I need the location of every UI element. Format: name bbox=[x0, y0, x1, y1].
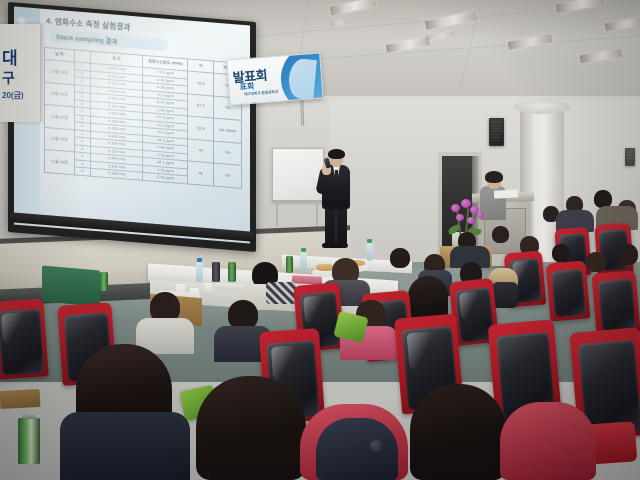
foreground-person-body bbox=[60, 412, 190, 480]
seat-panel bbox=[598, 279, 636, 332]
column-cap bbox=[514, 100, 570, 114]
presenter-shoes bbox=[322, 243, 348, 248]
cell-percent: 52.6 bbox=[188, 116, 214, 141]
foreground-person-hair bbox=[410, 384, 506, 480]
cell-date: 10월 29일 bbox=[45, 59, 75, 84]
cell-percent: 48.5 bbox=[188, 71, 214, 96]
cell-date: 10월 30일 bbox=[45, 82, 75, 107]
bottle-cap bbox=[301, 248, 306, 252]
beverage-can bbox=[212, 262, 220, 282]
beverage-can bbox=[286, 256, 293, 273]
seat-gloss bbox=[406, 331, 439, 369]
left-banner-line1: 대 bbox=[2, 44, 17, 69]
seat-gloss bbox=[303, 295, 329, 323]
seat-gloss bbox=[459, 291, 484, 319]
whiteboard-tray bbox=[272, 200, 322, 203]
armrest bbox=[0, 389, 40, 409]
cell-date: 11월 08일 bbox=[45, 149, 75, 174]
seat-panel bbox=[551, 269, 586, 318]
wall-speaker-icon bbox=[625, 148, 635, 166]
orchid-flower bbox=[456, 214, 464, 221]
table-body: 10월 29일10.276 mol73.2 ppm48.57hr20.116 m… bbox=[45, 59, 242, 187]
whiteboard-leg bbox=[276, 202, 278, 226]
audience-head bbox=[618, 244, 638, 265]
cell-date: 11월 05일 bbox=[45, 127, 75, 152]
orchid-flower bbox=[477, 212, 484, 218]
backpack-button bbox=[370, 440, 382, 452]
presenter-leg-split bbox=[335, 212, 337, 245]
cell-time: 7hr bbox=[214, 141, 242, 166]
audience-head bbox=[492, 226, 509, 243]
audience-head bbox=[552, 244, 570, 262]
water-bottle bbox=[366, 243, 373, 261]
beverage-can bbox=[18, 418, 40, 464]
foreground-backpack bbox=[316, 418, 398, 480]
cell-time: 7hr bbox=[214, 163, 242, 188]
left-banner-line2: 구 bbox=[2, 68, 15, 88]
orchid-flower bbox=[461, 199, 471, 208]
slide-data-table: 날 짜 농 도 염화수소농도 (PPM) % Time 10월 29일10.27… bbox=[44, 47, 242, 188]
lecture-hall-photo: ❄ ❅ ❄ ❆ 4. 염화수소 측정 실험결과 Stack sampling 결… bbox=[0, 0, 640, 480]
audience-head bbox=[586, 252, 606, 272]
podium-person-hair bbox=[485, 171, 503, 183]
paper-cup bbox=[204, 283, 212, 292]
foreground-person-hair bbox=[196, 376, 306, 480]
cell-percent: 67.3 bbox=[188, 93, 214, 118]
seat-gloss bbox=[1, 312, 29, 344]
beverage-can bbox=[100, 272, 108, 291]
water-bottle bbox=[300, 252, 307, 271]
bottle-cap bbox=[367, 239, 372, 243]
orchid-flower bbox=[451, 204, 460, 212]
cell-percent: 46 bbox=[188, 161, 214, 186]
whiteboard-leg bbox=[316, 202, 318, 226]
audience-head bbox=[390, 248, 410, 268]
cell-index: 3 bbox=[74, 167, 90, 176]
cell-percent: 45 bbox=[188, 138, 214, 163]
presenter-tie bbox=[335, 170, 338, 183]
presenter-hair bbox=[328, 149, 345, 159]
whiteboard bbox=[272, 148, 324, 202]
bottle-cap bbox=[197, 258, 202, 262]
wall-speaker-icon bbox=[489, 118, 504, 146]
left-banner-line3: 20(금) bbox=[2, 90, 24, 101]
audience-coat bbox=[492, 282, 518, 308]
cell-time: 1hr 40min bbox=[214, 118, 242, 143]
lectern-papers bbox=[494, 189, 518, 198]
water-bottle bbox=[196, 262, 203, 282]
event-banner: 발표회 표회 대구대학교 환경공학과 bbox=[226, 52, 323, 105]
green-cabinet bbox=[42, 265, 100, 306]
can-top bbox=[22, 414, 36, 419]
beverage-can bbox=[228, 262, 236, 282]
seat-gloss bbox=[271, 345, 301, 381]
left-banner: 대 구 20(금) bbox=[0, 24, 41, 122]
projection-screen[interactable]: ❄ ❅ ❄ ❆ 4. 염화수소 측정 실험결과 Stack sampling 결… bbox=[14, 7, 250, 244]
orchid-flower bbox=[467, 217, 475, 224]
cell-date: 11월 02일 bbox=[45, 104, 75, 129]
foreground-seat-red bbox=[500, 402, 596, 480]
checkered-pattern bbox=[266, 282, 296, 304]
